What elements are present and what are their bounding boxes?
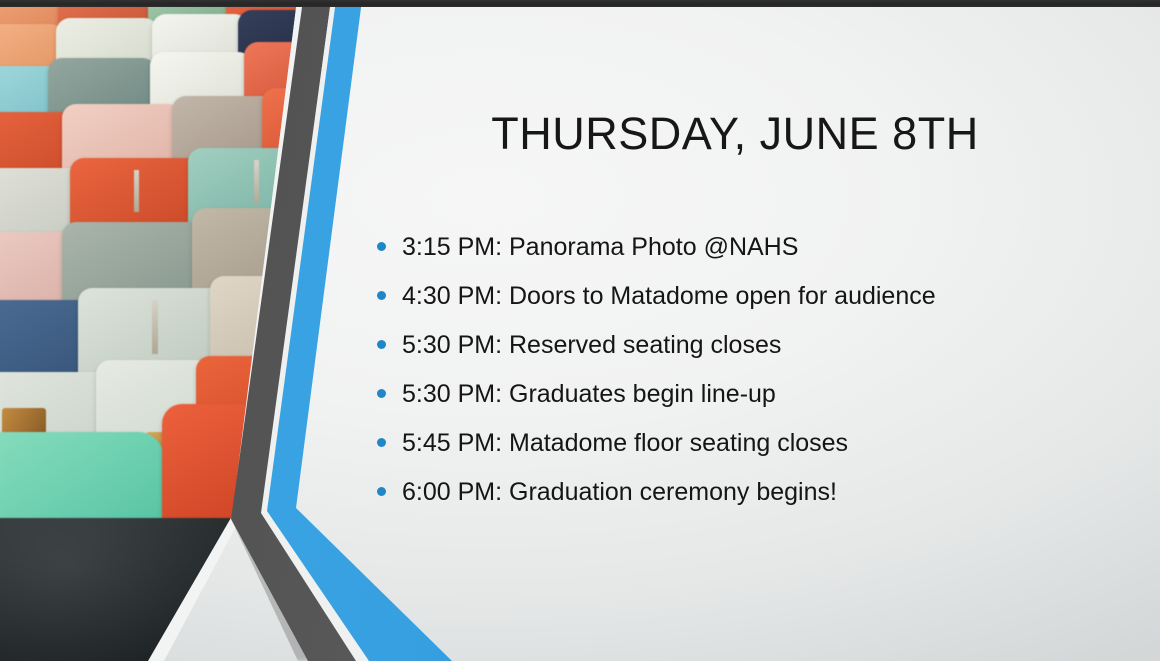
list-item: 5:45 PM: Matadome floor seating closes bbox=[372, 426, 1092, 460]
list-item-label: 5:30 PM: Reserved seating closes bbox=[402, 331, 781, 359]
presentation-slide: THURSDAY, JUNE 8TH 3:15 PM: Panorama Pho… bbox=[0, 0, 1160, 661]
list-item: 4:30 PM: Doors to Matadome open for audi… bbox=[372, 279, 1092, 313]
schedule-list: 3:15 PM: Panorama Photo @NAHS 4:30 PM: D… bbox=[372, 230, 1092, 524]
list-item-label: 4:30 PM: Doors to Matadome open for audi… bbox=[402, 282, 936, 310]
list-item-label: 5:30 PM: Graduates begin line-up bbox=[402, 380, 776, 408]
list-item: 5:30 PM: Reserved seating closes bbox=[372, 328, 1092, 362]
list-item: 6:00 PM: Graduation ceremony begins! bbox=[372, 475, 1092, 509]
bullet-dot-icon bbox=[377, 291, 386, 300]
bullet-dot-icon bbox=[377, 389, 386, 398]
bullet-dot-icon bbox=[377, 438, 386, 447]
list-item-label: 6:00 PM: Graduation ceremony begins! bbox=[402, 478, 837, 506]
bullet-dot-icon bbox=[377, 487, 386, 496]
bullet-dot-icon bbox=[377, 340, 386, 349]
bullet-dot-icon bbox=[377, 242, 386, 251]
page-title: THURSDAY, JUNE 8TH bbox=[390, 108, 1080, 160]
top-dark-bar bbox=[0, 0, 1160, 7]
list-item: 3:15 PM: Panorama Photo @NAHS bbox=[372, 230, 1092, 264]
list-item-label: 5:45 PM: Matadome floor seating closes bbox=[402, 429, 848, 457]
list-item: 5:30 PM: Graduates begin line-up bbox=[372, 377, 1092, 411]
list-item-label: 3:15 PM: Panorama Photo @NAHS bbox=[402, 233, 798, 261]
slide-content: THURSDAY, JUNE 8TH 3:15 PM: Panorama Pho… bbox=[0, 0, 1160, 661]
